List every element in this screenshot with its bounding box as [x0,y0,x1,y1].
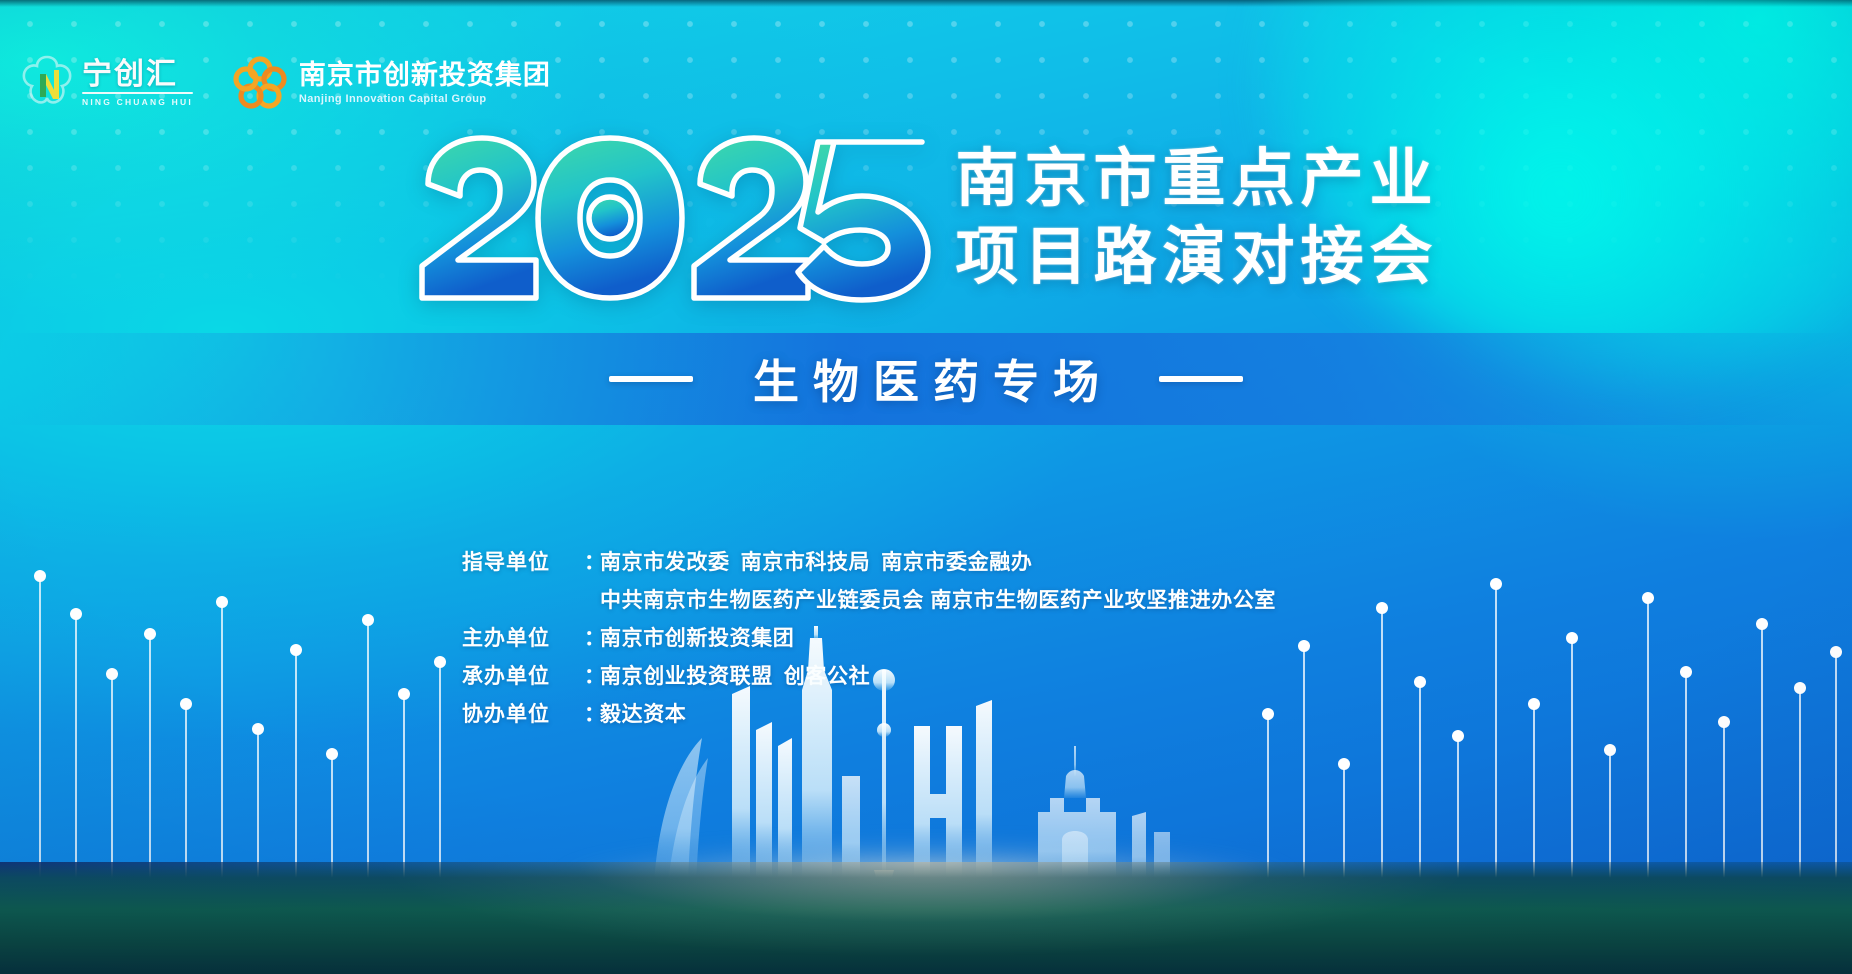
hero-title-text: 南京市重点产业 项目路演对接会 [956,142,1439,295]
horizon-glow [407,808,1444,888]
band-dash-right-icon [1159,376,1243,382]
ningchuanghui-rule [82,92,193,94]
organizer-label: 承办单位 [462,660,584,690]
organizer-colon: ： [584,698,600,728]
organizer-value: 南京市发改委 [600,551,730,574]
event-poster: 宁创汇 NING CHUANG HUI 南京市创新 [0,0,1852,974]
subtitle-band: 生物医药专场 [0,333,1852,425]
plum-blossom-n-mark-icon [16,52,78,114]
organizer-value: 毅达资本 [600,703,686,726]
top-edge-shade [0,0,1852,7]
band-text: 生物医药专场 [739,346,1113,412]
organizer-row-guidance: 指导单位 ： 南京市发改委南京市科技局南京市委金融办 [462,546,1276,576]
organizer-colon: ： [584,660,600,690]
organizer-value: 南京市委金融办 [881,551,1032,574]
hero-title-block: 南京市重点产业 项目路演对接会 [0,132,1852,304]
logo-nanjing-innovation-capital-group: 南京市创新投资集团 Nanjing Innovation Capital Gro… [229,52,551,114]
njic-en: Nanjing Innovation Capital Group [299,93,551,105]
organizer-label: 主办单位 [462,622,584,652]
organizer-guidance-extra-line: 中共南京市生物医药产业链委员会 南京市生物医药产业攻坚推进办公室 [600,584,1276,614]
interlocking-flower-mark-icon [229,52,291,114]
hero-title-line-1: 南京市重点产业 [956,142,1439,216]
ningchuanghui-cn: 宁创汇 [82,59,193,91]
organizer-colon: ： [584,622,600,652]
organizer-values: 南京创业投资联盟创客公社 [600,660,870,690]
ground-left-tint [0,862,704,974]
njic-wordmark: 南京市创新投资集团 Nanjing Innovation Capital Gro… [299,61,551,105]
organizer-value: 创客公社 [784,665,870,688]
year-2025-graphic [414,132,934,304]
organizers-block: 指导单位 ： 南京市发改委南京市科技局南京市委金融办 中共南京市生物医药产业链委… [462,546,1276,736]
organizer-label: 协办单位 [462,698,584,728]
logo-ningchuanghui: 宁创汇 NING CHUANG HUI [16,52,193,114]
organizer-colon: ： [584,546,600,576]
organizer-value: 南京市科技局 [741,551,871,574]
organizer-row-organizer: 承办单位 ： 南京创业投资联盟创客公社 [462,660,1276,690]
organizer-row-host: 主办单位 ： 南京市创新投资集团 [462,622,1276,652]
organizer-row-coorganizer: 协办单位 ： 毅达资本 [462,698,1276,728]
organizer-values: 南京市发改委南京市科技局南京市委金融办 [600,546,1032,576]
band-dash-left-icon [609,376,693,382]
ningchuanghui-wordmark: 宁创汇 NING CHUANG HUI [82,59,193,108]
organizer-label: 指导单位 [462,546,584,576]
organizer-values: 南京市创新投资集团 [600,622,794,652]
organizer-value: 南京创业投资联盟 [600,665,773,688]
njic-cn: 南京市创新投资集团 [299,61,551,91]
logo-bar: 宁创汇 NING CHUANG HUI 南京市创新 [16,52,551,114]
organizer-value: 南京市创新投资集团 [600,627,794,650]
ningchuanghui-en: NING CHUANG HUI [82,97,193,107]
ground-plane [0,862,1852,974]
hero-title-line-2: 项目路演对接会 [956,220,1439,294]
organizer-values: 毅达资本 [600,698,686,728]
